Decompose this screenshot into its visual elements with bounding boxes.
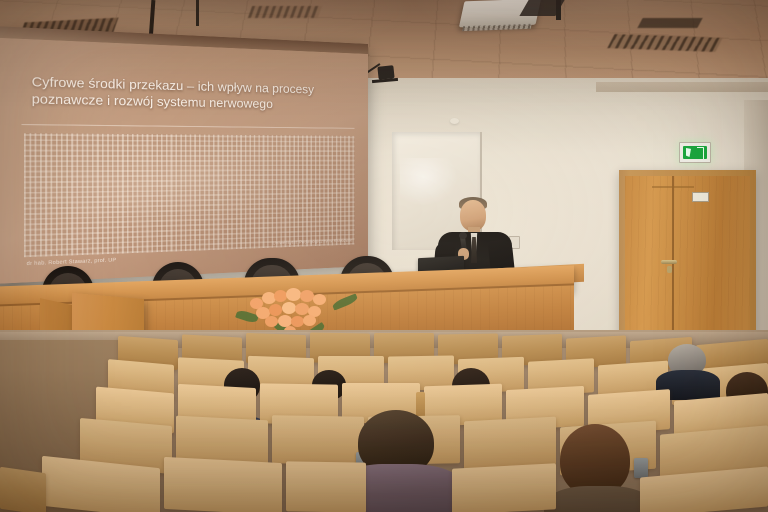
bouquet-flower bbox=[265, 316, 278, 327]
seat-back[interactable] bbox=[286, 461, 366, 512]
seat-back[interactable] bbox=[0, 467, 46, 512]
door-center-split bbox=[672, 176, 674, 342]
bouquet-leaf bbox=[331, 293, 358, 310]
seat-bracket bbox=[634, 458, 648, 478]
seat-back[interactable] bbox=[464, 417, 556, 470]
projection-screen: Cyfrowe środki przekazu – ich wpływ na p… bbox=[0, 26, 368, 283]
slide-title: Cyfrowe środki przekazu – ich wpływ na p… bbox=[32, 74, 341, 114]
ceiling-fixture-icon bbox=[637, 18, 702, 28]
ceiling-fixture-icon bbox=[248, 6, 322, 18]
bouquet-flower bbox=[291, 316, 304, 327]
lecture-hall-photo: Cyfrowe środki przekazu – ich wpływ na p… bbox=[0, 0, 768, 512]
bouquet-flower bbox=[303, 315, 316, 326]
bouquet-flower bbox=[286, 288, 301, 301]
bouquet-flower bbox=[274, 290, 287, 302]
person-shoulders bbox=[544, 486, 654, 512]
bouquet-flower bbox=[295, 303, 309, 315]
exit-sign bbox=[679, 142, 711, 163]
seat-back[interactable] bbox=[452, 463, 556, 512]
slide-footer-author: dr hab. Robert Stawarz, prof. UP bbox=[27, 257, 117, 266]
microphone-head bbox=[459, 232, 467, 239]
door-lock-icon[interactable] bbox=[667, 266, 672, 273]
slide-surface: Cyfrowe środki przekazu – ich wpływ na p… bbox=[0, 26, 368, 283]
bouquet-flower bbox=[300, 290, 314, 302]
slide-divider bbox=[22, 124, 355, 129]
door-sign bbox=[692, 192, 709, 202]
projector-arm bbox=[556, 0, 561, 20]
wall-light-icon bbox=[450, 118, 459, 124]
bouquet-flower bbox=[313, 294, 326, 305]
door-wood-grain bbox=[625, 176, 750, 342]
bouquet-flower bbox=[269, 304, 282, 316]
ceiling-mount-rod bbox=[196, 0, 199, 26]
seat-back[interactable] bbox=[164, 457, 282, 512]
running-man-exit-icon bbox=[683, 146, 707, 159]
door-push-bar bbox=[652, 186, 694, 188]
bouquet-flower bbox=[282, 302, 296, 314]
door-handle-icon[interactable] bbox=[661, 260, 677, 264]
seat-back[interactable] bbox=[272, 415, 364, 465]
